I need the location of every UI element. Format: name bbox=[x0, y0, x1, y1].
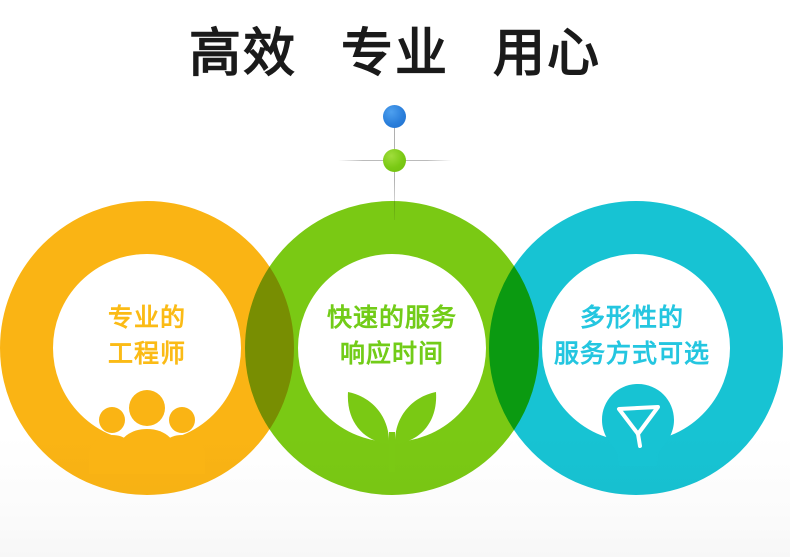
circle-service-modes-line1: 多形性的 bbox=[580, 303, 684, 332]
people-icon bbox=[87, 388, 207, 474]
circle-service-modes-label: 多形性的 服务方式可选 bbox=[517, 300, 747, 371]
circle-engineers-line1: 专业的 bbox=[108, 303, 186, 332]
circle-response-time-label: 快速的服务 响应时间 bbox=[277, 300, 507, 371]
circle-engineers-label: 专业的 工程师 bbox=[32, 300, 262, 371]
poster-canvas: 高效专业用心 专业的 工程师 快 bbox=[0, 0, 790, 557]
circle-response-time-line2: 响应时间 bbox=[277, 336, 507, 372]
circle-engineers-line2: 工程师 bbox=[32, 336, 262, 372]
circle-response-time-line1: 快速的服务 bbox=[327, 303, 457, 332]
sprout-icon bbox=[332, 386, 452, 472]
circle-service-modes-line2: 服务方式可选 bbox=[517, 336, 747, 372]
lightbulb-icon bbox=[578, 382, 698, 468]
